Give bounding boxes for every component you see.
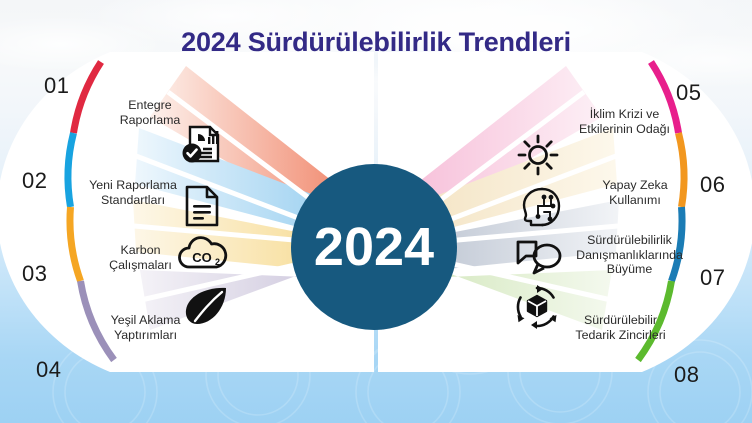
step-number-02: 02	[22, 168, 47, 194]
step-label-05: İklim Krizi ve Etkilerinin Odağı	[552, 107, 697, 136]
report-chart-check-icon	[176, 119, 226, 169]
leaf-icon	[182, 284, 232, 328]
page-title: 2024 Sürdürülebilirlik Trendleri	[0, 27, 752, 58]
speech-bubbles-icon	[514, 237, 566, 277]
step-number-01: 01	[44, 73, 69, 99]
document-lines-icon	[180, 183, 224, 229]
svg-text:2: 2	[215, 257, 220, 267]
ai-head-icon	[518, 184, 564, 230]
step-number-05: 05	[676, 80, 701, 106]
supply-chain-cycle-icon	[514, 284, 560, 330]
center-year-text: 2024	[314, 220, 434, 274]
step-label-07: Sürdürülebilirlik Danışmanlıklarında Büy…	[552, 233, 707, 277]
co2-cloud-icon: CO 2	[176, 235, 228, 275]
step-label-08: Sürdürülebilir Tedarik Zincirleri	[548, 313, 693, 342]
step-number-04: 04	[36, 357, 61, 383]
step-label-06: Yapay Zeka Kullanımı	[570, 178, 700, 207]
infographic-canvas: 2024 2024 Sürdürülebilirlik Trendleri 01…	[0, 0, 752, 423]
step-number-08: 08	[674, 362, 699, 388]
step-number-03: 03	[22, 261, 47, 287]
sun-icon	[516, 133, 560, 177]
step-number-06: 06	[700, 172, 725, 198]
svg-text:CO: CO	[192, 250, 212, 265]
center-year-circle: 2024	[291, 164, 457, 330]
